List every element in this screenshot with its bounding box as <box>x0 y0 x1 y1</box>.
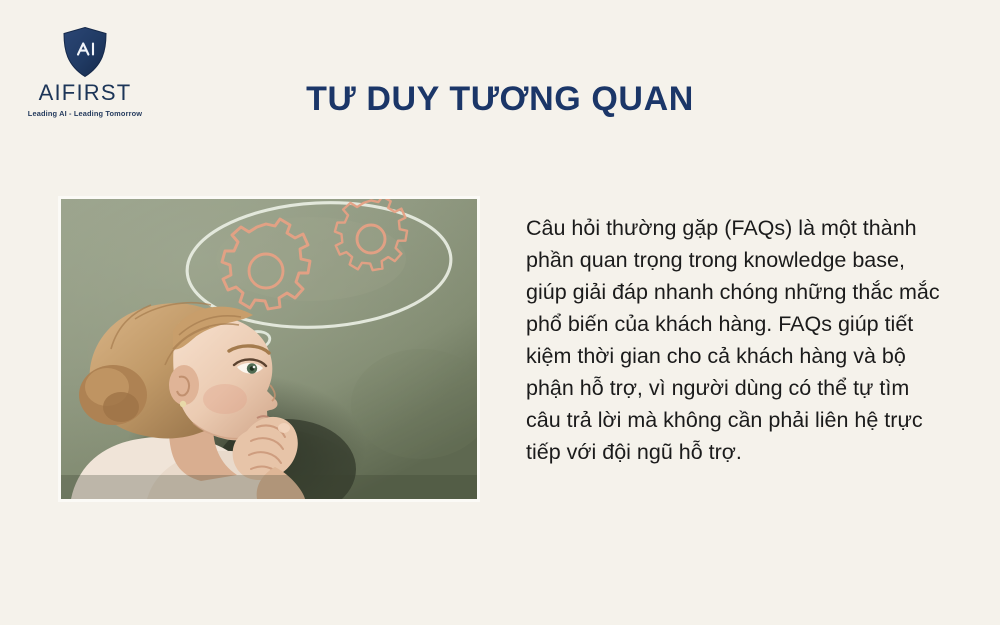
page-title: TƯ DUY TƯƠNG QUAN <box>0 81 1000 118</box>
thinking-girl-chalkboard-photo <box>61 199 477 499</box>
photo-frame <box>58 196 480 502</box>
shield-ai-icon <box>61 26 109 78</box>
slide-root: AIFIRST Leading AI - Leading Tomorrow TƯ… <box>0 0 1000 625</box>
body-paragraph: Câu hỏi thường gặp (FAQs) là một thành p… <box>526 212 944 468</box>
